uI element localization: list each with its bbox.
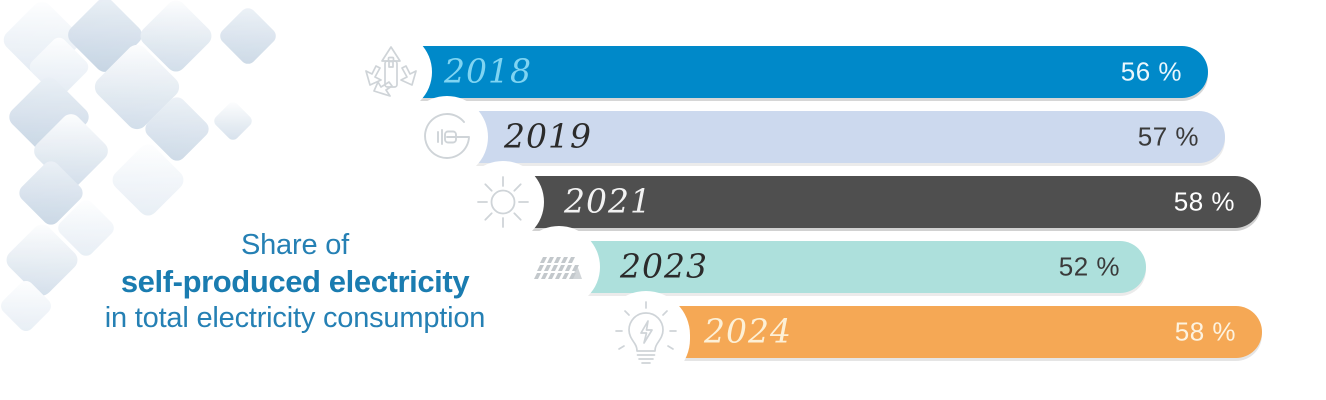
bar-fill-2021 [464,176,1261,228]
bar-row-2023[interactable]: 2023 52 % [520,241,1146,293]
icon-bubble-2023[interactable] [518,226,600,308]
caption-block: Share of self-produced electricity in to… [60,228,530,337]
icon-bubble-2024[interactable] [602,291,690,383]
sun-icon [472,171,534,233]
icon-bubble-2018[interactable] [350,31,432,113]
bar-fill-2023 [520,241,1146,293]
bar-fill-2018 [352,46,1208,98]
caption-line-2: self-produced electricity [60,263,530,301]
lightbulb-idea-icon [613,301,679,373]
bar-fill-2024 [604,306,1262,358]
infographic-canvas: 2018 56 % 2019 57 % [0,0,1326,400]
icon-bubble-2019[interactable] [406,96,488,178]
bar-row-2024[interactable]: 2024 58 % [604,306,1262,358]
bar-row-2018[interactable]: 2018 56 % [352,46,1208,98]
solar-panel-icon [527,235,591,299]
diamond-squares-pattern [0,0,360,400]
bar-row-2021[interactable]: 2021 58 % [464,176,1261,228]
plug-circle-icon [416,106,478,168]
battery-recycle-icon [360,41,422,103]
bar-row-2019[interactable]: 2019 57 % [408,111,1225,163]
bar-fill-2019 [408,111,1225,163]
caption-line-1: Share of [60,228,530,263]
caption-line-3: in total electricity consumption [60,301,530,336]
